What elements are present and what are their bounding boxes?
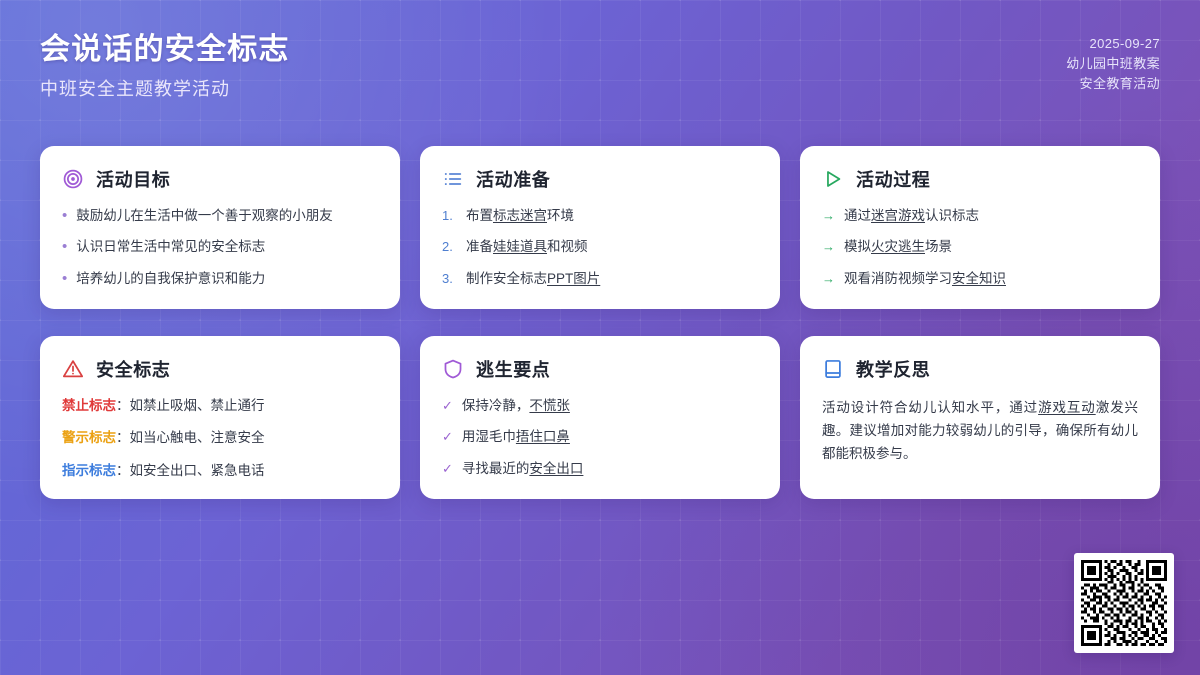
highlighted-keyword: 安全知识 <box>952 271 1006 286</box>
highlighted-keyword: 火灾逃生 <box>871 239 925 254</box>
highlighted-keyword: 安全出口 <box>529 461 583 476</box>
list-item-text: 寻找最近的安全出口 <box>462 459 584 479</box>
list-item-text: 活动设计符合幼儿认知水平，通过游戏互动激发兴趣。建议增加对能力较弱幼儿的引导，确… <box>822 400 1138 461</box>
card-header: 逃生要点 <box>442 356 758 382</box>
qr-code <box>1081 560 1167 646</box>
card-title: 安全标志 <box>96 356 170 382</box>
list-item: →模拟火灾逃生场景 <box>822 237 1138 257</box>
card-body: •鼓励幼儿在生活中做一个善于观察的小朋友•认识日常生活中常见的安全标志•培养幼儿… <box>62 206 378 289</box>
number-marker: 2. <box>442 237 457 257</box>
card-title: 逃生要点 <box>476 356 550 382</box>
card-header: 活动准备 <box>442 166 758 192</box>
card-teaching-reflection[interactable]: 教学反思活动设计符合幼儿认知水平，通过游戏互动激发兴趣。建议增加对能力较弱幼儿的… <box>800 336 1160 499</box>
header-meta-line2: 幼儿园中班教案 <box>1066 54 1160 74</box>
card-activity-preparation[interactable]: 活动准备1.布置标志迷宫环境2.准备娃娃道具和视频3.制作安全标志PPT图片 <box>420 146 780 309</box>
list-item-text: 培养幼儿的自我保护意识和能力 <box>76 269 265 289</box>
list-item-text: 保持冷静，不慌张 <box>462 396 570 416</box>
target-icon <box>62 168 84 190</box>
card-body: 活动设计符合幼儿认知水平，通过游戏互动激发兴趣。建议增加对能力较弱幼儿的引导，确… <box>822 396 1138 466</box>
highlighted-keyword: PPT图片 <box>547 271 600 286</box>
safety-sign-row: 禁止标志：如禁止吸烟、禁止通行 <box>62 396 378 416</box>
header-date: 2025-09-27 <box>1066 34 1160 54</box>
page-subtitle: 中班安全主题教学活动 <box>40 75 290 101</box>
highlighted-keyword: 标志迷宫 <box>493 208 547 223</box>
bullet-marker: • <box>62 237 67 257</box>
arrow-marker: → <box>822 269 835 289</box>
list-item-text: 用湿毛巾捂住口鼻 <box>462 427 570 447</box>
warning-triangle-icon <box>62 358 84 380</box>
safety-sign-row: 指示标志：如安全出口、紧急电话 <box>62 461 378 481</box>
card-title: 活动准备 <box>476 166 550 192</box>
safety-sign-label: 指示标志 <box>62 463 116 478</box>
card-header: 活动过程 <box>822 166 1138 192</box>
play-icon <box>822 168 844 190</box>
book-icon <box>822 358 844 380</box>
safety-sign-description: ：如安全出口、紧急电话 <box>116 463 265 478</box>
list-icon <box>442 168 464 190</box>
highlighted-keyword: 捂住口鼻 <box>516 429 570 444</box>
card-activity-goals[interactable]: 活动目标•鼓励幼儿在生活中做一个善于观察的小朋友•认识日常生活中常见的安全标志•… <box>40 146 400 309</box>
card-body: →通过迷宫游戏认识标志→模拟火灾逃生场景→观看消防视频学习安全知识 <box>822 206 1138 289</box>
check-marker: ✓ <box>442 459 453 479</box>
title-block: 会说话的安全标志 中班安全主题教学活动 <box>40 27 290 102</box>
list-item: →通过迷宫游戏认识标志 <box>822 206 1138 226</box>
card-header: 安全标志 <box>62 356 378 382</box>
card-body: ✓保持冷静，不慌张✓用湿毛巾捂住口鼻✓寻找最近的安全出口 <box>442 396 758 479</box>
card-escape-points[interactable]: 逃生要点✓保持冷静，不慌张✓用湿毛巾捂住口鼻✓寻找最近的安全出口 <box>420 336 780 499</box>
check-marker: ✓ <box>442 396 453 416</box>
list-item: •鼓励幼儿在生活中做一个善于观察的小朋友 <box>62 206 378 226</box>
card-grid: 活动目标•鼓励幼儿在生活中做一个善于观察的小朋友•认识日常生活中常见的安全标志•… <box>40 146 1160 499</box>
arrow-marker: → <box>822 206 835 226</box>
list-item-text: 制作安全标志PPT图片 <box>466 269 600 289</box>
card-activity-process[interactable]: 活动过程→通过迷宫游戏认识标志→模拟火灾逃生场景→观看消防视频学习安全知识 <box>800 146 1160 309</box>
list-item: 2.准备娃娃道具和视频 <box>442 237 758 257</box>
qr-code-container[interactable] <box>1074 553 1174 653</box>
number-marker: 3. <box>442 269 457 289</box>
list-item: →观看消防视频学习安全知识 <box>822 269 1138 289</box>
list-item-text: 通过迷宫游戏认识标志 <box>844 206 979 226</box>
reflection-paragraph: 活动设计符合幼儿认知水平，通过游戏互动激发兴趣。建议增加对能力较弱幼儿的引导，确… <box>822 396 1138 466</box>
bullet-marker: • <box>62 269 67 289</box>
safety-sign-label: 警示标志 <box>62 430 116 445</box>
list-item-text: 模拟火灾逃生场景 <box>844 237 952 257</box>
safety-sign-description: ：如禁止吸烟、禁止通行 <box>116 398 265 413</box>
highlighted-keyword: 不慌张 <box>529 398 570 413</box>
card-safety-signs[interactable]: 安全标志禁止标志：如禁止吸烟、禁止通行警示标志：如当心触电、注意安全指示标志：如… <box>40 336 400 499</box>
number-marker: 1. <box>442 206 457 226</box>
safety-sign-description: ：如当心触电、注意安全 <box>116 430 265 445</box>
card-title: 活动过程 <box>856 166 930 192</box>
list-item: ✓用湿毛巾捂住口鼻 <box>442 427 758 447</box>
card-header: 教学反思 <box>822 356 1138 382</box>
list-item: 3.制作安全标志PPT图片 <box>442 269 758 289</box>
list-item: 1.布置标志迷宫环境 <box>442 206 758 226</box>
list-item: •培养幼儿的自我保护意识和能力 <box>62 269 378 289</box>
safety-sign-row: 警示标志：如当心触电、注意安全 <box>62 428 378 448</box>
list-item-text: 布置标志迷宫环境 <box>466 206 574 226</box>
header-meta: 2025-09-27 幼儿园中班教案 安全教育活动 <box>1066 34 1160 94</box>
list-item: ✓保持冷静，不慌张 <box>442 396 758 416</box>
list-item-text: 观看消防视频学习安全知识 <box>844 269 1006 289</box>
card-body: 1.布置标志迷宫环境2.准备娃娃道具和视频3.制作安全标志PPT图片 <box>442 206 758 289</box>
card-body: 禁止标志：如禁止吸烟、禁止通行警示标志：如当心触电、注意安全指示标志：如安全出口… <box>62 396 378 481</box>
safety-sign-label: 禁止标志 <box>62 398 116 413</box>
header-meta-line3: 安全教育活动 <box>1066 74 1160 94</box>
list-item-text: 鼓励幼儿在生活中做一个善于观察的小朋友 <box>76 206 333 226</box>
bullet-marker: • <box>62 206 67 226</box>
list-item-text: 准备娃娃道具和视频 <box>466 237 588 257</box>
list-item: ✓寻找最近的安全出口 <box>442 459 758 479</box>
card-title: 教学反思 <box>856 356 930 382</box>
list-item: •认识日常生活中常见的安全标志 <box>62 237 378 257</box>
list-item-text: 认识日常生活中常见的安全标志 <box>76 237 265 257</box>
highlighted-keyword: 娃娃道具 <box>493 239 547 254</box>
highlighted-keyword: 游戏互动 <box>1038 400 1096 415</box>
highlighted-keyword: 迷宫游戏 <box>871 208 925 223</box>
page-header: 会说话的安全标志 中班安全主题教学活动 2025-09-27 幼儿园中班教案 安… <box>0 0 1200 128</box>
card-header: 活动目标 <box>62 166 378 192</box>
arrow-marker: → <box>822 237 835 257</box>
check-marker: ✓ <box>442 427 453 447</box>
card-title: 活动目标 <box>96 166 170 192</box>
page-title: 会说话的安全标志 <box>40 31 290 69</box>
shield-icon <box>442 358 464 380</box>
